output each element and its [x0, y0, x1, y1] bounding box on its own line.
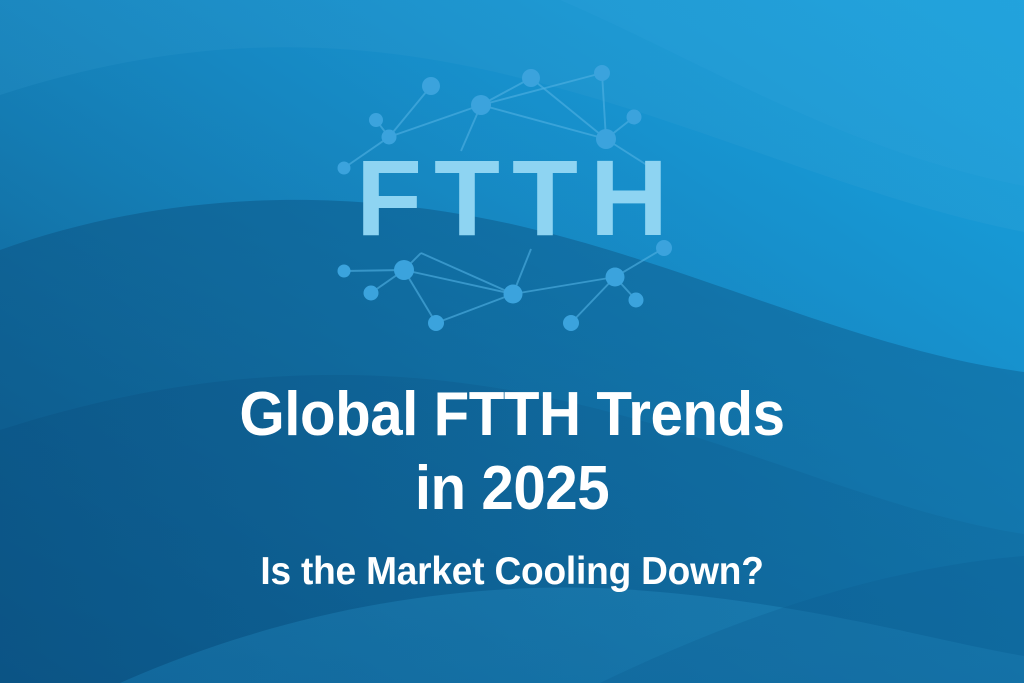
headline: Global FTTH Trends in 2025: [0, 378, 1024, 526]
headline-line-2: in 2025: [31, 452, 994, 526]
headline-line-1: Global FTTH Trends: [31, 378, 994, 452]
subtitle: Is the Market Cooling Down?: [26, 548, 999, 596]
ftth-trends-banner: FTTH Global FTTH Trends in 2025 Is the M…: [0, 0, 1024, 683]
ftth-wordmark: FTTH: [0, 143, 1024, 253]
banner-content: FTTH Global FTTH Trends in 2025 Is the M…: [0, 0, 1024, 683]
